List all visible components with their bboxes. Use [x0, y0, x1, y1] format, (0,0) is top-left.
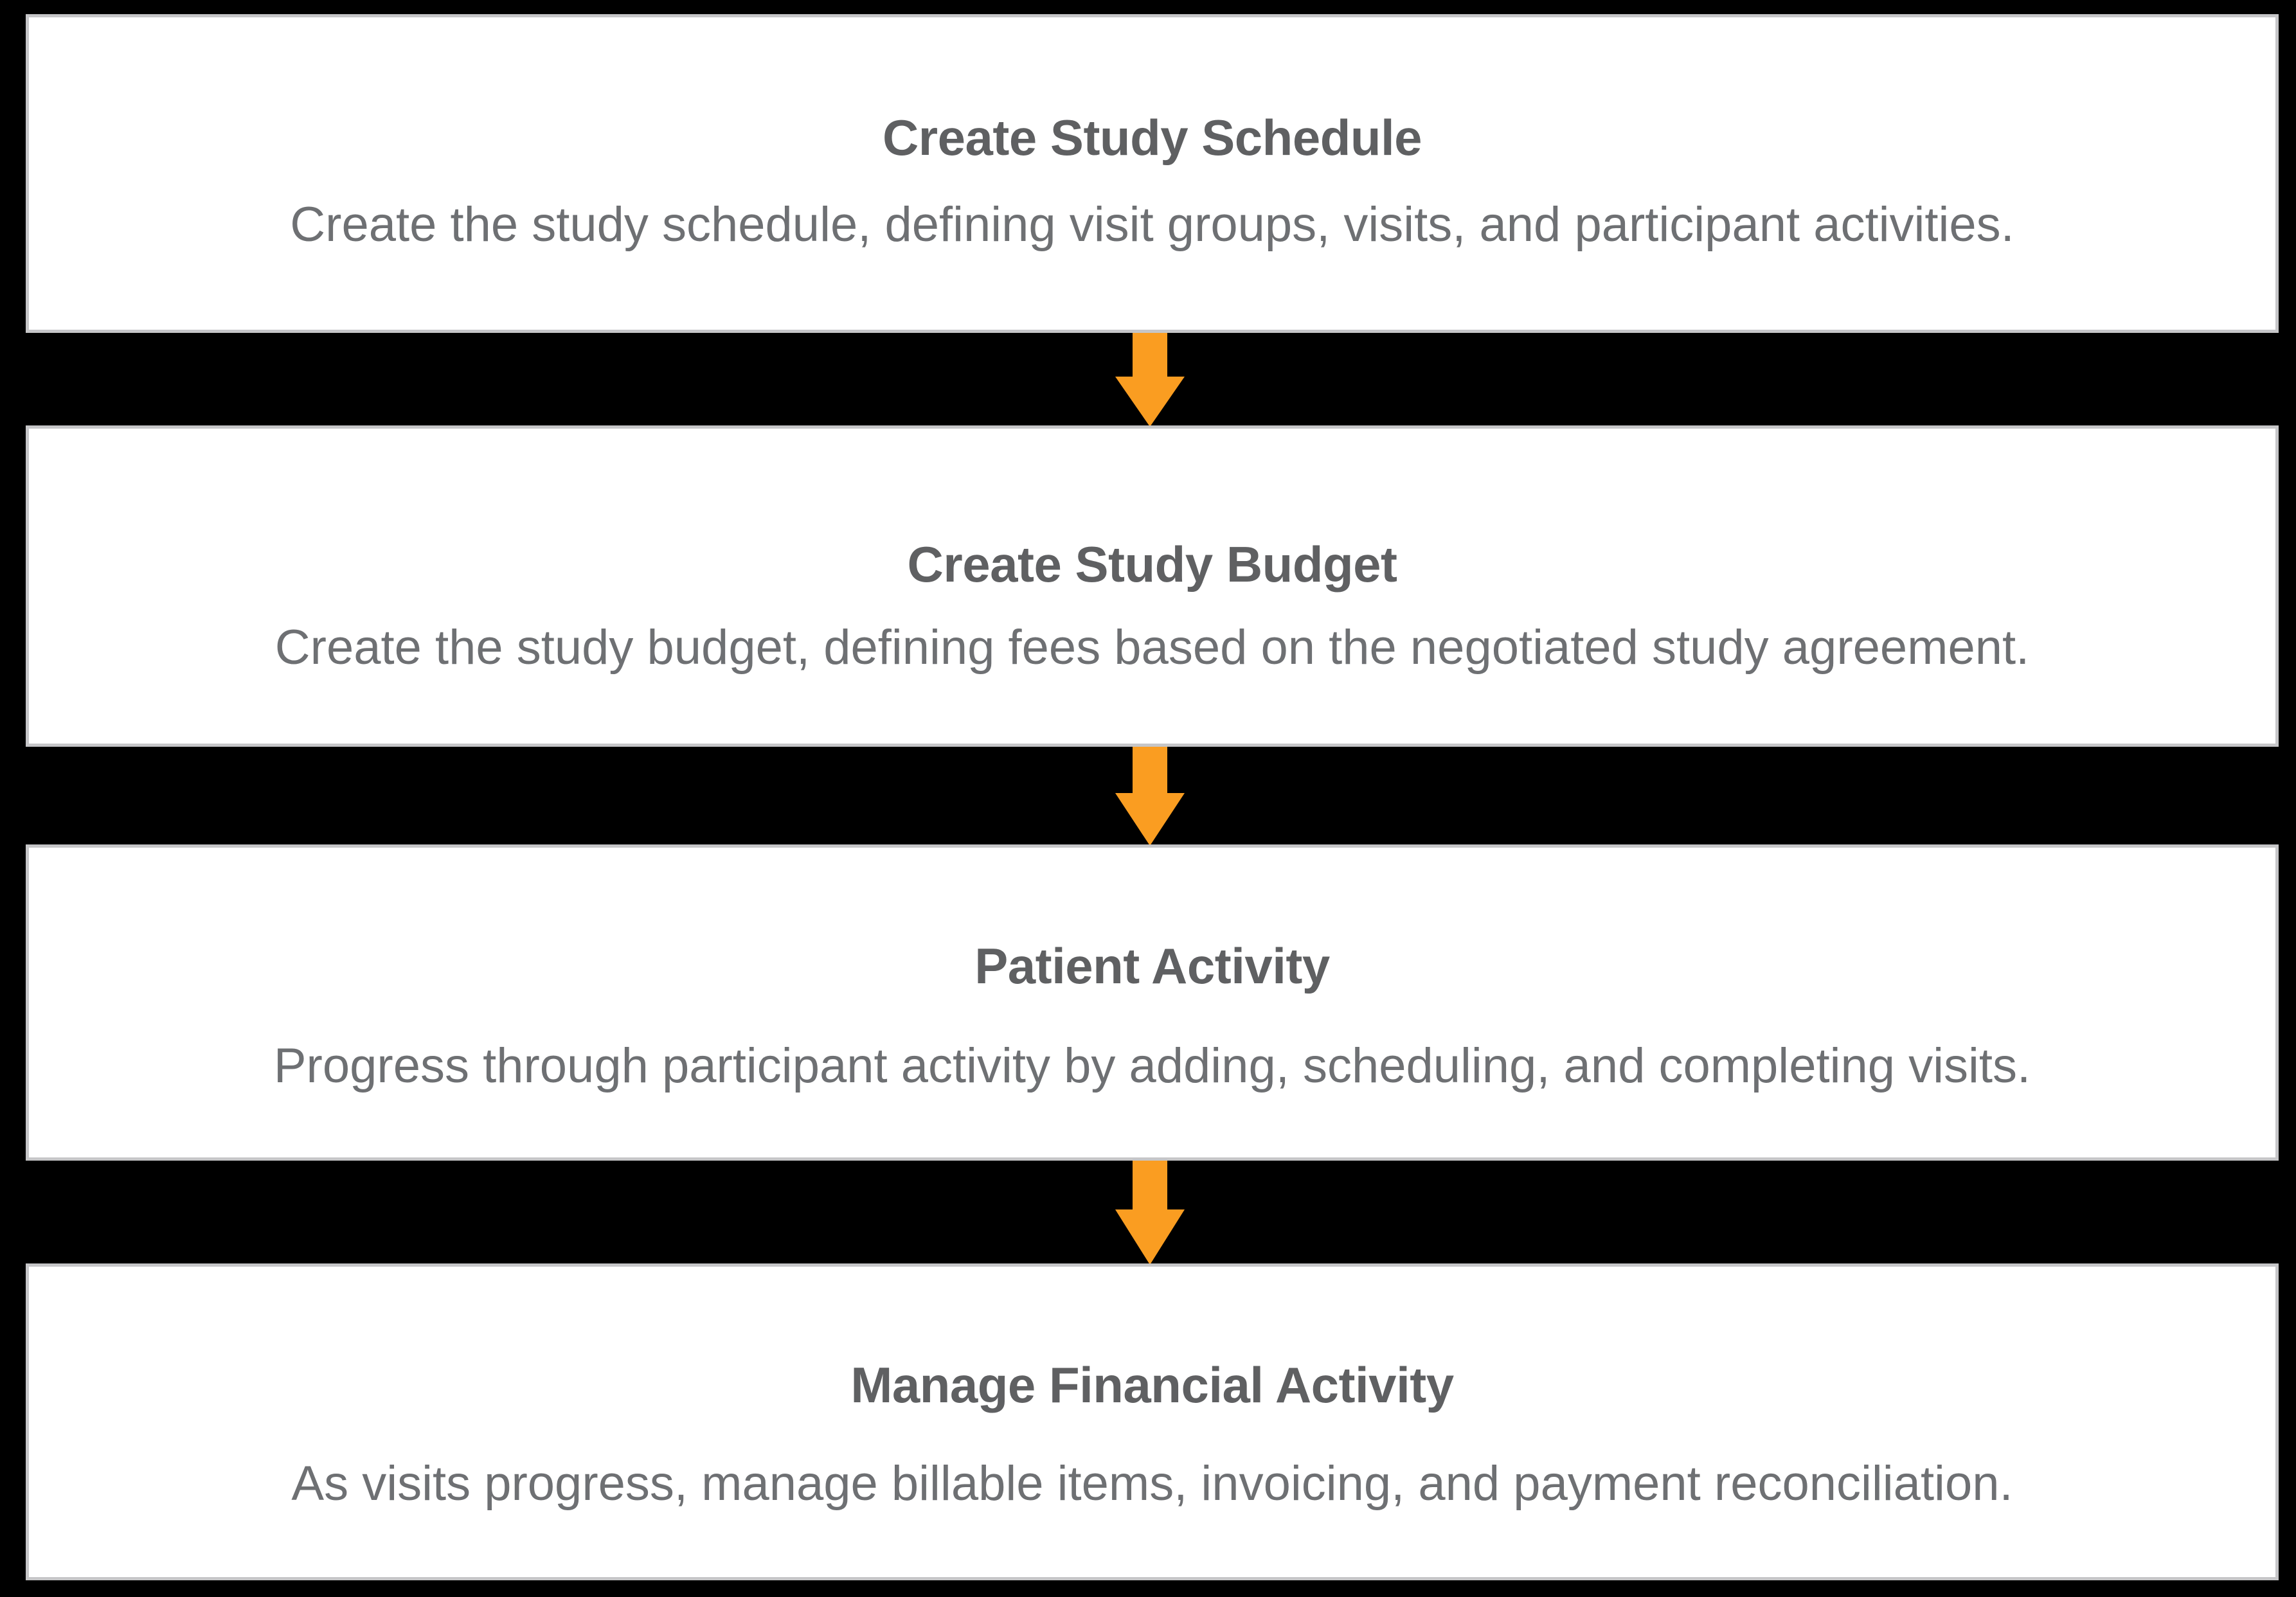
process-step-manage-financial-activity: Manage Financial Activity As visits prog…	[26, 1263, 2279, 1580]
workflow-diagram: Create Study Schedule Create the study s…	[0, 0, 2296, 1597]
process-step-create-study-schedule: Create Study Schedule Create the study s…	[26, 14, 2279, 333]
process-step-create-study-budget: Create Study Budget Create the study bud…	[26, 425, 2279, 747]
arrow-down-icon	[1115, 1161, 1185, 1265]
step-description: As visits progress, manage billable item…	[291, 1457, 2013, 1511]
arrow-down-icon	[1115, 333, 1185, 427]
step-description: Create the study schedule, defining visi…	[290, 198, 2014, 252]
step-description: Progress through participant activity by…	[274, 1039, 2031, 1093]
step-title: Manage Financial Activity	[850, 1359, 1453, 1412]
step-description: Create the study budget, defining fees b…	[275, 621, 2029, 675]
step-title: Patient Activity	[974, 940, 1330, 993]
process-step-patient-activity: Patient Activity Progress through partic…	[26, 844, 2279, 1161]
step-title: Create Study Schedule	[883, 112, 1422, 165]
step-title: Create Study Budget	[908, 539, 1397, 591]
arrow-down-icon	[1115, 747, 1185, 846]
